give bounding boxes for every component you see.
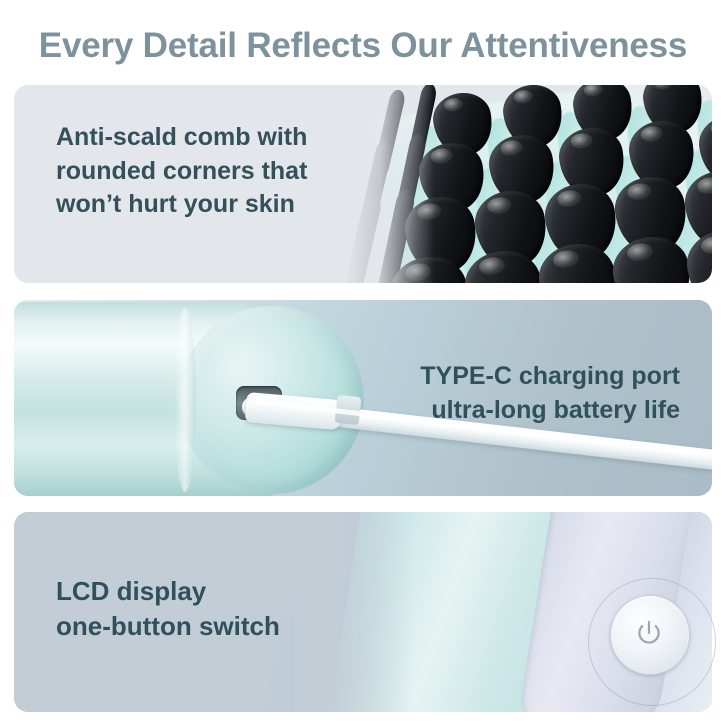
panel-2-caption: TYPE-C charging port ultra-long battery … [420,360,680,427]
panel-3-caption: LCD display one-button switch [56,574,280,644]
panel-anti-scald-comb: Anti-scald comb with rounded corners tha… [14,85,712,283]
device-seam [174,308,196,492]
panel-1-caption: Anti-scald comb with rounded corners tha… [56,121,307,222]
comb-image [344,85,712,283]
infographic-page: Every Detail Reflects Our Attentiveness [0,0,726,726]
comb-image-left-fade [344,85,434,283]
power-icon [633,617,665,649]
panel-type-c-charging: TYPE-C charging port ultra-long battery … [14,300,712,496]
page-title: Every Detail Reflects Our Attentiveness [0,26,726,66]
panel-3-left-fade [294,512,414,712]
